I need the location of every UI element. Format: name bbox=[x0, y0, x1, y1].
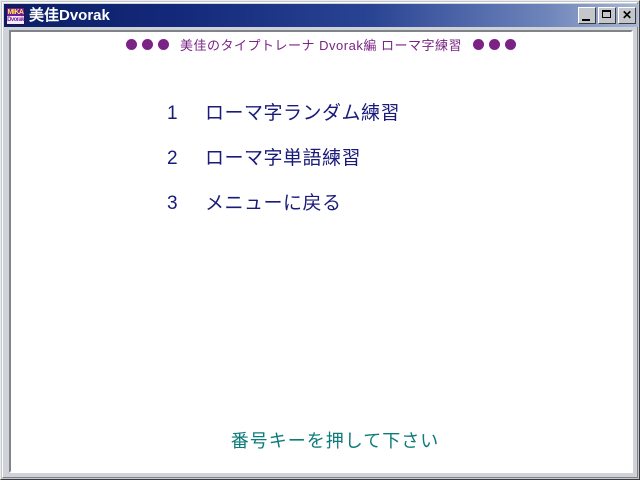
menu-list: 1 ローマ字ランダム練習 2 ローマ字単語練習 3 メニューに戻る bbox=[167, 98, 587, 233]
close-icon: ✕ bbox=[619, 8, 635, 23]
bullet-group-left bbox=[126, 39, 169, 50]
footer-prompt: 番号キーを押して下さい bbox=[11, 427, 631, 453]
window-controls: ✕ bbox=[576, 7, 636, 24]
menu-item-number: 1 bbox=[167, 103, 205, 125]
menu-item-3[interactable]: 3 メニューに戻る bbox=[167, 188, 587, 233]
bullet-icon bbox=[158, 39, 169, 50]
app-icon-top-text: MIKA bbox=[7, 8, 24, 16]
menu-item-number: 3 bbox=[167, 193, 205, 215]
menu-item-2[interactable]: 2 ローマ字単語練習 bbox=[167, 143, 587, 188]
title-bar[interactable]: MIKA Dvorak 美佳Dvorak ✕ bbox=[4, 4, 638, 27]
menu-item-label: ローマ字単語練習 bbox=[205, 143, 361, 170]
application-window: MIKA Dvorak 美佳Dvorak ✕ bbox=[0, 0, 640, 480]
close-button[interactable]: ✕ bbox=[618, 7, 636, 24]
footer-prompt-text: 番号キーを押して下さい bbox=[231, 427, 439, 453]
app-header-title: 美佳のタイプトレーナ Dvorak編 ローマ字練習 bbox=[180, 35, 462, 54]
client-frame: 美佳のタイプトレーナ Dvorak編 ローマ字練習 1 ローマ字ランダム練習 2… bbox=[9, 30, 633, 473]
bullet-icon bbox=[473, 39, 484, 50]
app-icon-bottom-text: Dvorak bbox=[7, 16, 24, 24]
menu-item-1[interactable]: 1 ローマ字ランダム練習 bbox=[167, 98, 587, 143]
client-area: 美佳のタイプトレーナ Dvorak編 ローマ字練習 1 ローマ字ランダム練習 2… bbox=[11, 32, 631, 471]
minimize-button[interactable] bbox=[578, 7, 596, 24]
bullet-icon bbox=[489, 39, 500, 50]
bullet-icon bbox=[142, 39, 153, 50]
bullet-icon bbox=[126, 39, 137, 50]
bullet-icon bbox=[505, 39, 516, 50]
app-header: 美佳のタイプトレーナ Dvorak編 ローマ字練習 bbox=[11, 35, 631, 54]
bullet-group-right bbox=[473, 39, 516, 50]
window-title: 美佳Dvorak bbox=[29, 7, 576, 25]
minimize-icon bbox=[582, 19, 590, 21]
menu-item-number: 2 bbox=[167, 148, 205, 170]
maximize-icon bbox=[602, 10, 611, 18]
maximize-button[interactable] bbox=[598, 7, 616, 24]
menu-item-label: ローマ字ランダム練習 bbox=[205, 98, 400, 125]
app-icon[interactable]: MIKA Dvorak bbox=[6, 7, 25, 25]
menu-item-label: メニューに戻る bbox=[205, 188, 342, 215]
